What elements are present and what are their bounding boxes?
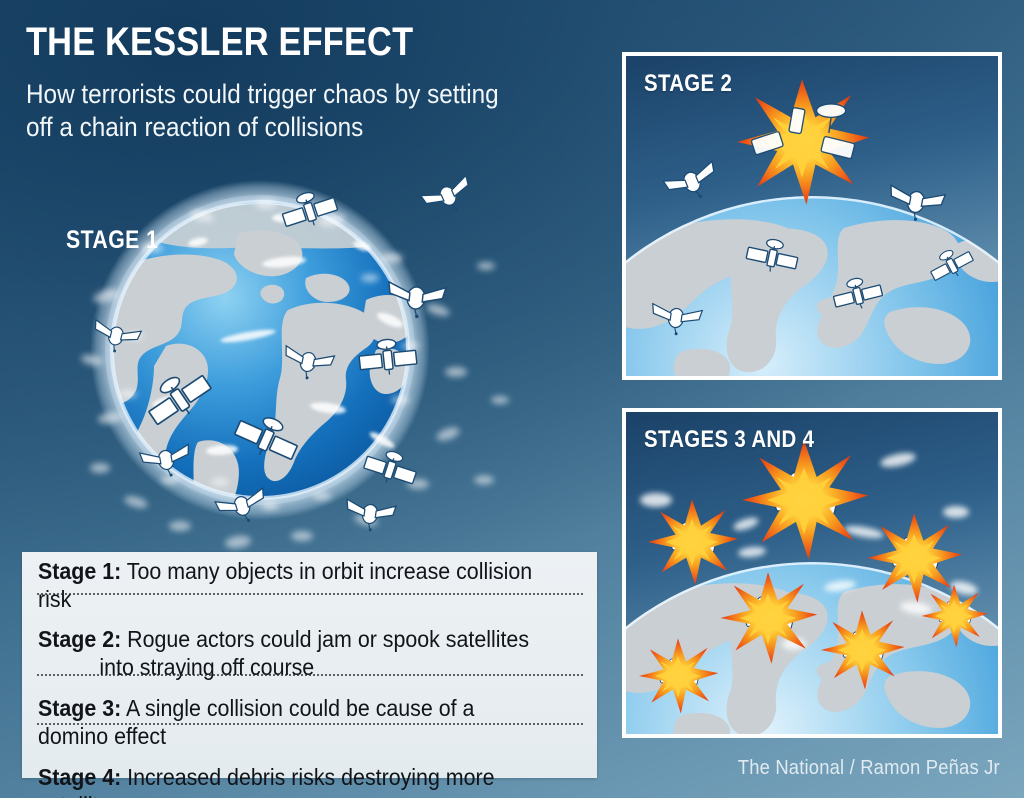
legend-divider xyxy=(36,723,583,725)
credit-line: The National / Ramon Peñas Jr xyxy=(738,757,1000,780)
page-subtitle: How terrorists could trigger chaos by se… xyxy=(26,78,530,144)
legend-divider xyxy=(36,674,583,676)
panel-stages-3-and-4: STAGES 3 AND 4 xyxy=(622,408,1002,738)
legend-key: Stage 4: xyxy=(38,764,121,790)
legend-text: Rogue actors could jam or spook satellit… xyxy=(127,626,529,652)
panel-label-stages34: STAGES 3 AND 4 xyxy=(644,426,814,454)
legend-key: Stage 2: xyxy=(38,626,121,652)
legend-box: Stage 1: Too many objects in orbit incre… xyxy=(22,552,597,778)
legend-key: Stage 3: xyxy=(38,695,121,721)
panel-stage2: STAGE 2 xyxy=(622,52,1002,380)
legend-key: Stage 1: xyxy=(38,558,121,584)
legend-divider xyxy=(36,593,583,595)
infographic-poster: THE KESSLER EFFECT How terrorists could … xyxy=(0,0,1024,798)
stage2-illustration xyxy=(626,56,998,376)
legend-row: Stage 3: A single collision could be cau… xyxy=(22,685,597,754)
legend-row: Stage 4: Increased debris risks destroyi… xyxy=(22,754,597,798)
legend-text-continued: into straying off course xyxy=(38,653,545,681)
stage1-label: STAGE 1 xyxy=(66,226,158,255)
panel-label-stage2: STAGE 2 xyxy=(644,70,732,98)
stage1-illustration xyxy=(70,150,540,560)
stages34-illustration xyxy=(626,412,998,734)
legend-row: Stage 1: Too many objects in orbit incre… xyxy=(22,552,597,617)
page-title: THE KESSLER EFFECT xyxy=(26,20,413,64)
